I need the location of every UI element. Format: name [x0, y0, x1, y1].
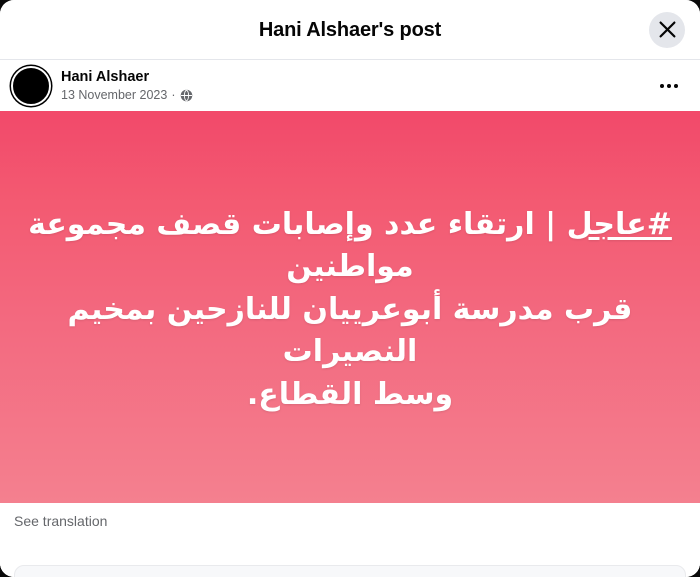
see-translation-link[interactable]: See translation: [14, 513, 107, 530]
page-title: Hani Alshaer's post: [259, 20, 441, 40]
author-name[interactable]: Hani Alshaer: [61, 68, 652, 87]
post-more-options-button[interactable]: [652, 69, 686, 103]
ellipsis-icon: [660, 84, 678, 88]
globe-icon[interactable]: [180, 89, 193, 102]
post-image-text: #عاجل | ارتقاء عدد وإصابات قصف مجموعة مو…: [0, 204, 700, 417]
see-translation-row: See translation: [0, 503, 700, 531]
post-footer: Are you interested in this post?: [0, 531, 700, 577]
post-image-text-line-3: وسط القطاع.: [14, 374, 686, 417]
post-image[interactable]: #عاجل | ارتقاء عدد وإصابات قصف مجموعة مو…: [0, 111, 700, 503]
post-author-row: Hani Alshaer 13 November 2023 ·: [0, 60, 700, 111]
post-image-text-line-1: #عاجل | ارتقاء عدد وإصابات قصف مجموعة مو…: [14, 204, 686, 289]
hashtag-link[interactable]: #عاجل: [567, 207, 672, 242]
post-meta-line: 13 November 2023 ·: [61, 87, 652, 103]
post-dialog: Hani Alshaer's post Hani Alshaer 13 Nove…: [0, 0, 700, 577]
modal-header: Hani Alshaer's post: [0, 0, 700, 60]
close-icon: [659, 21, 676, 38]
post-survey-card: Are you interested in this post?: [14, 565, 686, 577]
meta-separator: ·: [171, 87, 175, 103]
post-image-text-line-1-rest: | ارتقاء عدد وإصابات قصف مجموعة مواطنين: [28, 207, 566, 285]
close-button[interactable]: [649, 12, 685, 48]
post-image-text-line-2: قرب مدرسة أبوعرييان للنازحين بمخيم النصي…: [14, 289, 686, 374]
avatar[interactable]: [11, 66, 51, 106]
author-meta: Hani Alshaer 13 November 2023 ·: [61, 68, 652, 104]
post-body: Hani Alshaer 13 November 2023 ·: [0, 60, 700, 577]
post-timestamp[interactable]: 13 November 2023: [61, 87, 167, 103]
